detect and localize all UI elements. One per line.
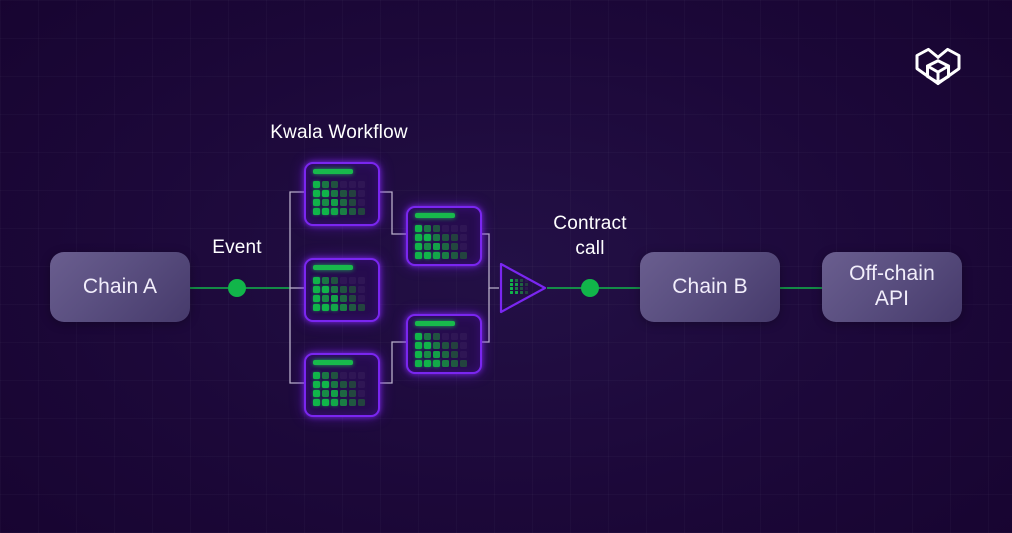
node-cell xyxy=(340,399,347,406)
node-cell xyxy=(433,243,440,250)
node-cell xyxy=(322,277,329,284)
node-cell xyxy=(349,295,356,302)
label-contract-call: Contract call xyxy=(520,211,660,261)
node-cell xyxy=(358,304,365,311)
node-cell xyxy=(322,295,329,302)
node-cell xyxy=(313,381,320,388)
trigger-cell xyxy=(510,287,513,290)
node-cell xyxy=(322,372,329,379)
node-cell xyxy=(460,333,467,340)
node-cell xyxy=(415,225,422,232)
node-cell xyxy=(313,399,320,406)
node-cell-grid xyxy=(415,225,467,259)
node-cell xyxy=(460,243,467,250)
node-cell xyxy=(433,342,440,349)
workflow-node-3[interactable] xyxy=(304,353,380,417)
node-cell xyxy=(349,199,356,206)
node-cell xyxy=(340,277,347,284)
trigger-cell xyxy=(515,287,518,290)
node-cell xyxy=(451,351,458,358)
node-cell xyxy=(331,181,338,188)
node-title-bar xyxy=(415,213,455,218)
trigger-cell xyxy=(520,287,523,290)
node-cell xyxy=(331,381,338,388)
node-cell xyxy=(424,225,431,232)
node-cell xyxy=(415,360,422,367)
node-cell xyxy=(313,286,320,293)
trigger-cell xyxy=(515,283,518,286)
diagram-canvas: Chain A Chain B Off-chain API Kwala Work… xyxy=(0,0,1012,533)
node-cell xyxy=(331,199,338,206)
node-cell xyxy=(451,225,458,232)
node-cell xyxy=(313,372,320,379)
node-cell xyxy=(358,286,365,293)
node-cell xyxy=(451,252,458,259)
node-cell xyxy=(424,234,431,241)
node-cell xyxy=(433,333,440,340)
contract-call-dot xyxy=(581,279,599,297)
node-cell xyxy=(340,208,347,215)
node-cell xyxy=(424,360,431,367)
node-cell xyxy=(415,351,422,358)
label-contract-call-line1: Contract xyxy=(520,211,660,236)
trigger-cell xyxy=(515,279,518,282)
node-cell xyxy=(424,351,431,358)
trigger-cell xyxy=(510,279,513,282)
node-cell xyxy=(322,390,329,397)
node-cell xyxy=(322,304,329,311)
node-cell xyxy=(340,372,347,379)
node-cell xyxy=(451,234,458,241)
node-cell xyxy=(451,342,458,349)
node-cell xyxy=(313,304,320,311)
node-cell xyxy=(340,181,347,188)
node-cell xyxy=(349,304,356,311)
workflow-node-4[interactable] xyxy=(406,206,482,266)
node-cell xyxy=(451,360,458,367)
trigger-cell xyxy=(525,287,528,290)
node-cell xyxy=(424,252,431,259)
node-cell xyxy=(313,277,320,284)
node-cell xyxy=(322,381,329,388)
node-cell xyxy=(340,286,347,293)
node-cell xyxy=(433,252,440,259)
node-cell xyxy=(415,342,422,349)
node-cell xyxy=(451,333,458,340)
node-cell xyxy=(442,333,449,340)
event-dot xyxy=(228,279,246,297)
trigger-cell xyxy=(510,283,513,286)
node-cell xyxy=(424,333,431,340)
node-cell xyxy=(313,181,320,188)
node-title-bar xyxy=(313,265,353,270)
node-cell-grid xyxy=(415,333,467,367)
node-cell xyxy=(433,351,440,358)
endpoint-label: Off-chain API xyxy=(849,262,935,312)
node-cell xyxy=(340,199,347,206)
node-cell xyxy=(349,372,356,379)
node-cell xyxy=(322,399,329,406)
node-cell xyxy=(358,390,365,397)
node-cell xyxy=(442,342,449,349)
trigger-cell xyxy=(525,283,528,286)
node-cell xyxy=(415,333,422,340)
trigger-cell xyxy=(520,291,523,294)
node-cell xyxy=(415,252,422,259)
node-cell xyxy=(460,360,467,367)
trigger-cell xyxy=(515,291,518,294)
node-cell xyxy=(331,190,338,197)
node-cell-grid xyxy=(313,277,365,311)
node-cell xyxy=(460,225,467,232)
node-cell xyxy=(433,234,440,241)
node-cell xyxy=(442,252,449,259)
node-cell xyxy=(313,190,320,197)
node-cell xyxy=(460,234,467,241)
node-cell xyxy=(322,199,329,206)
node-cell xyxy=(331,372,338,379)
node-cell xyxy=(349,381,356,388)
endpoint-chain-b[interactable]: Chain B xyxy=(640,252,780,322)
node-cell xyxy=(415,234,422,241)
node-cell xyxy=(349,286,356,293)
node-cell xyxy=(442,234,449,241)
node-cell xyxy=(460,252,467,259)
node-cell xyxy=(442,360,449,367)
node-title-bar xyxy=(313,169,353,174)
node-cell xyxy=(349,208,356,215)
node-cell xyxy=(358,372,365,379)
node-cell xyxy=(424,342,431,349)
node-cell xyxy=(424,243,431,250)
node-cell xyxy=(331,277,338,284)
endpoint-offchain-api[interactable]: Off-chain API xyxy=(822,252,962,322)
node-cell xyxy=(460,351,467,358)
node-cell xyxy=(322,190,329,197)
endpoint-label: Chain B xyxy=(672,275,747,300)
trigger-cell xyxy=(525,291,528,294)
node-cell-grid xyxy=(313,181,365,215)
node-cell xyxy=(433,225,440,232)
node-cell xyxy=(313,390,320,397)
node-cell xyxy=(358,399,365,406)
label-event: Event xyxy=(187,237,287,259)
label-kwala-workflow: Kwala Workflow xyxy=(239,122,439,144)
node-cell xyxy=(349,390,356,397)
node-cell xyxy=(331,286,338,293)
endpoint-chain-a[interactable]: Chain A xyxy=(50,252,190,322)
trigger-cell xyxy=(525,279,528,282)
node-cell xyxy=(322,286,329,293)
node-cell xyxy=(340,390,347,397)
node-cell xyxy=(349,399,356,406)
node-cell xyxy=(340,295,347,302)
node-cell xyxy=(340,304,347,311)
node-cell xyxy=(358,295,365,302)
node-cell xyxy=(349,190,356,197)
trigger-cell xyxy=(510,291,513,294)
label-contract-call-line2: call xyxy=(520,236,660,261)
workflow-node-1[interactable] xyxy=(304,162,380,226)
node-cell xyxy=(442,243,449,250)
node-cell xyxy=(331,390,338,397)
trigger-cell xyxy=(520,279,523,282)
node-title-bar xyxy=(415,321,455,326)
contract-call-trigger[interactable] xyxy=(499,262,547,314)
node-cell xyxy=(340,381,347,388)
node-cell xyxy=(349,181,356,188)
node-cell xyxy=(340,190,347,197)
workflow-node-2[interactable] xyxy=(304,258,380,322)
trigger-cell xyxy=(520,283,523,286)
node-cell xyxy=(358,181,365,188)
node-cell xyxy=(331,295,338,302)
node-cell xyxy=(358,381,365,388)
node-title-bar xyxy=(313,360,353,365)
endpoint-label: Chain A xyxy=(83,275,157,300)
node-cell xyxy=(433,360,440,367)
node-cell xyxy=(358,277,365,284)
node-cell xyxy=(331,399,338,406)
node-cell xyxy=(451,243,458,250)
node-cell xyxy=(358,190,365,197)
kwala-hexagon-cube-logo-icon xyxy=(910,38,966,94)
node-cell xyxy=(331,208,338,215)
trigger-cell-grid xyxy=(510,279,529,294)
node-cell xyxy=(358,208,365,215)
node-cell xyxy=(313,199,320,206)
node-cell xyxy=(322,181,329,188)
node-cell xyxy=(415,243,422,250)
node-cell xyxy=(442,351,449,358)
workflow-node-5[interactable] xyxy=(406,314,482,374)
node-cell xyxy=(349,277,356,284)
node-cell xyxy=(331,304,338,311)
node-cell xyxy=(442,225,449,232)
node-cell xyxy=(358,199,365,206)
node-cell-grid xyxy=(313,372,365,406)
node-cell xyxy=(313,295,320,302)
node-cell xyxy=(322,208,329,215)
node-cell xyxy=(313,208,320,215)
node-cell xyxy=(460,342,467,349)
